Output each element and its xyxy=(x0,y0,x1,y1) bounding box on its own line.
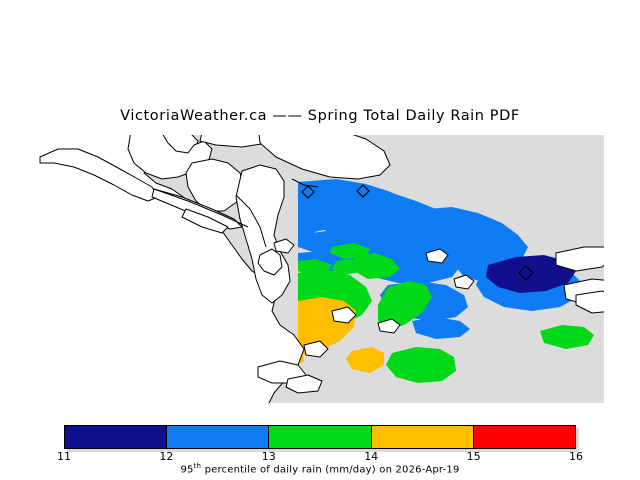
colorbar-segment-11-12[interactable] xyxy=(65,426,167,448)
colorbar-segment-13-14[interactable] xyxy=(269,426,371,448)
caption-prefix: 95 xyxy=(180,464,193,475)
weather-map-figure: VictoriaWeather.ca —— Spring Total Daily… xyxy=(0,0,640,480)
colorbar-caption: 95th percentile of daily rain (mm/day) o… xyxy=(0,462,640,475)
colorbar[interactable] xyxy=(64,425,576,449)
colorbar-segment-15-16[interactable] xyxy=(474,426,575,448)
map-panel[interactable] xyxy=(36,135,604,403)
colorbar-segment-12-13[interactable] xyxy=(167,426,269,448)
colorbar-segments[interactable] xyxy=(64,425,576,449)
colorbar-segment-14-15[interactable] xyxy=(372,426,474,448)
caption-suffix: percentile of daily rain (mm/day) on 202… xyxy=(201,464,459,475)
page-title: VictoriaWeather.ca —— Spring Total Daily… xyxy=(0,108,640,124)
map-canvas[interactable] xyxy=(36,135,604,403)
